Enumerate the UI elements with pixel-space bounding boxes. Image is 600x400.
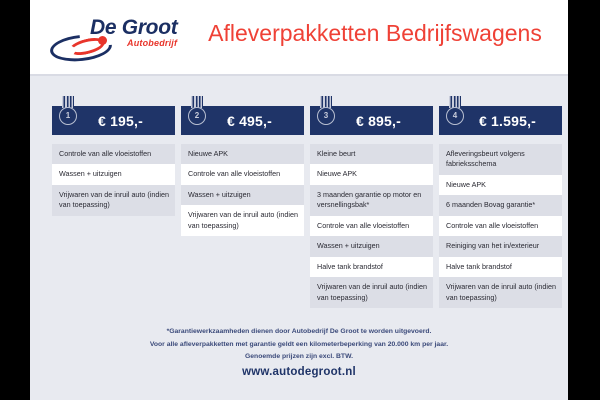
- website-link[interactable]: www.autodegroot.nl: [30, 366, 568, 378]
- package-item: Nieuwe APK: [310, 164, 433, 184]
- footer-line-1: *Garantiewerkzaamheden dienen door Autob…: [30, 326, 568, 339]
- screenshot-canvas: De Groot Autobedrijf Afleverpakketten Be…: [0, 0, 600, 400]
- package-price-bar: 2€ 495,-: [181, 106, 304, 135]
- package-item: Afleveringsbeurt volgens fabrieksschema: [439, 144, 562, 175]
- package-item: Nieuwe APK: [181, 144, 304, 164]
- package-item: Halve tank brandstof: [310, 257, 433, 277]
- package-column-2: 2€ 495,-Nieuwe APKControle van alle vloe…: [181, 106, 304, 236]
- company-logo: De Groot Autobedrijf: [50, 16, 200, 64]
- medal-icon: 1: [59, 96, 77, 129]
- package-item-list: Controle van alle vloeistoffenWassen + u…: [52, 144, 175, 216]
- package-item: 3 maanden garantie op motor en versnelli…: [310, 185, 433, 216]
- package-column-1: 1€ 195,-Controle van alle vloeistoffenWa…: [52, 106, 175, 216]
- flyer-sheet: De Groot Autobedrijf Afleverpakketten Be…: [30, 0, 568, 400]
- package-item: Halve tank brandstof: [439, 257, 562, 277]
- package-item-list: Afleveringsbeurt volgens fabrieksschemaN…: [439, 144, 562, 308]
- header-band: De Groot Autobedrijf Afleverpakketten Be…: [30, 0, 568, 76]
- medal-rank-number: 2: [188, 107, 206, 125]
- medal-icon: 3: [317, 96, 335, 129]
- medal-rank-number: 3: [317, 107, 335, 125]
- package-item: Kleine beurt: [310, 144, 433, 164]
- medal-icon: 2: [188, 96, 206, 129]
- package-item: Vrijwaren van de inruil auto (indien van…: [439, 277, 562, 308]
- medal-rank-number: 1: [59, 107, 77, 125]
- footer-line-2: Voor alle afleverpakketten met garantie …: [30, 339, 568, 352]
- logo-tagline: Autobedrijf: [127, 38, 177, 48]
- package-item: Vrijwaren van de inruil auto (indien van…: [52, 185, 175, 216]
- package-item: Controle van alle vloeistoffen: [181, 164, 304, 184]
- package-column-4: 4€ 1.595,-Afleveringsbeurt volgens fabri…: [439, 106, 562, 308]
- page-title: Afleverpakketten Bedrijfswagens: [190, 20, 560, 47]
- medal-rank-number: 4: [446, 107, 464, 125]
- footer-line-3: Genoemde prijzen zijn excl. BTW.: [30, 351, 568, 364]
- package-item: 6 maanden Bovag garantie*: [439, 195, 562, 215]
- package-price-bar: 1€ 195,-: [52, 106, 175, 135]
- package-item: Vrijwaren van de inruil auto (indien van…: [310, 277, 433, 308]
- footer-disclaimer: *Garantiewerkzaamheden dienen door Autob…: [30, 326, 568, 364]
- package-item: Wassen + uitzuigen: [52, 164, 175, 184]
- package-item: Nieuwe APK: [439, 175, 562, 195]
- package-item: Wassen + uitzuigen: [310, 236, 433, 256]
- package-item: Controle van alle vloeistoffen: [439, 216, 562, 236]
- package-column-3: 3€ 895,-Kleine beurtNieuwe APK3 maanden …: [310, 106, 433, 308]
- package-item: Controle van alle vloeistoffen: [310, 216, 433, 236]
- medal-icon: 4: [446, 96, 464, 129]
- package-item: Wassen + uitzuigen: [181, 185, 304, 205]
- package-item-list: Kleine beurtNieuwe APK3 maanden garantie…: [310, 144, 433, 308]
- package-item: Controle van alle vloeistoffen: [52, 144, 175, 164]
- logo-wordmark: De Groot: [90, 16, 177, 40]
- package-item-list: Nieuwe APKControle van alle vloeistoffen…: [181, 144, 304, 236]
- package-price-bar: 3€ 895,-: [310, 106, 433, 135]
- package-price-bar: 4€ 1.595,-: [439, 106, 562, 135]
- package-item: Vrijwaren van de inruil auto (indien van…: [181, 205, 304, 236]
- package-item: Reiniging van het in/exterieur: [439, 236, 562, 256]
- package-columns: 1€ 195,-Controle van alle vloeistoffenWa…: [30, 76, 568, 322]
